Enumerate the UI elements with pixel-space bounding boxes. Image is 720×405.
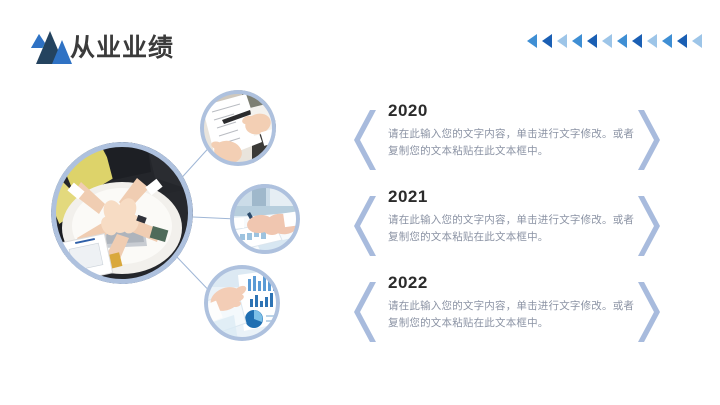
document-review-photo[interactable] (200, 90, 276, 166)
chevron-left-icon (354, 194, 380, 258)
entry-year: 2022 (388, 272, 638, 294)
entry-row[interactable]: 2021 请在此输入您的文字内容，单击进行文字修改。或者复制您的文本粘贴在此文本… (352, 186, 704, 266)
entry-description: 请在此输入您的文字内容，单击进行文字修改。或者复制您的文本粘贴在此文本框中。 (388, 126, 638, 160)
left-triangle-icon (617, 34, 627, 48)
left-triangle-icon (602, 34, 612, 48)
left-triangle-icon (572, 34, 582, 48)
entry-list: 2020 请在此输入您的文字内容，单击进行文字修改。或者复制您的文本粘贴在此文本… (352, 92, 704, 357)
chevron-left-icon (354, 108, 380, 172)
chevron-right-icon (634, 108, 660, 172)
mountain-logo-icon (30, 30, 72, 66)
data-charts-photo[interactable] (204, 265, 280, 341)
left-triangle-icon (557, 34, 567, 48)
photo-image (200, 90, 276, 166)
entry-body: 2021 请在此输入您的文字内容，单击进行文字修改。或者复制您的文本粘贴在此文本… (388, 186, 638, 246)
entry-row[interactable]: 2022 请在此输入您的文字内容，单击进行文字修改。或者复制您的文本粘贴在此文本… (352, 272, 704, 352)
chevron-left-icon (354, 280, 380, 344)
left-triangle-icon (647, 34, 657, 48)
left-triangle-icon (527, 34, 537, 48)
chevron-right-icon (634, 194, 660, 258)
left-triangle-icon (692, 34, 702, 48)
left-triangle-icon (632, 34, 642, 48)
entry-year: 2021 (388, 186, 638, 208)
photo-image (230, 184, 300, 254)
page-title: 从业业绩 (70, 31, 174, 65)
team-hands-together-photo[interactable] (51, 142, 193, 284)
left-triangle-icon (677, 34, 687, 48)
photo-image (51, 142, 193, 284)
chevron-right-icon (634, 280, 660, 344)
slide-header: 从业业绩 (0, 0, 720, 92)
photo-cluster (18, 80, 348, 380)
entry-body: 2022 请在此输入您的文字内容，单击进行文字修改。或者复制您的文本粘贴在此文本… (388, 272, 638, 332)
photo-image (204, 265, 280, 341)
entry-body: 2020 请在此输入您的文字内容，单击进行文字修改。或者复制您的文本粘贴在此文本… (388, 100, 638, 160)
left-triangle-icon (587, 34, 597, 48)
left-triangle-icon (662, 34, 672, 48)
desk-writing-photo[interactable] (230, 184, 300, 254)
entry-row[interactable]: 2020 请在此输入您的文字内容，单击进行文字修改。或者复制您的文本粘贴在此文本… (352, 100, 704, 180)
slide-root: 从业业绩 (0, 0, 720, 405)
entry-description: 请在此输入您的文字内容，单击进行文字修改。或者复制您的文本粘贴在此文本框中。 (388, 298, 638, 332)
entry-description: 请在此输入您的文字内容，单击进行文字修改。或者复制您的文本粘贴在此文本框中。 (388, 212, 638, 246)
entry-year: 2020 (388, 100, 638, 122)
arrow-decoration-group (527, 32, 702, 50)
left-triangle-icon (542, 34, 552, 48)
